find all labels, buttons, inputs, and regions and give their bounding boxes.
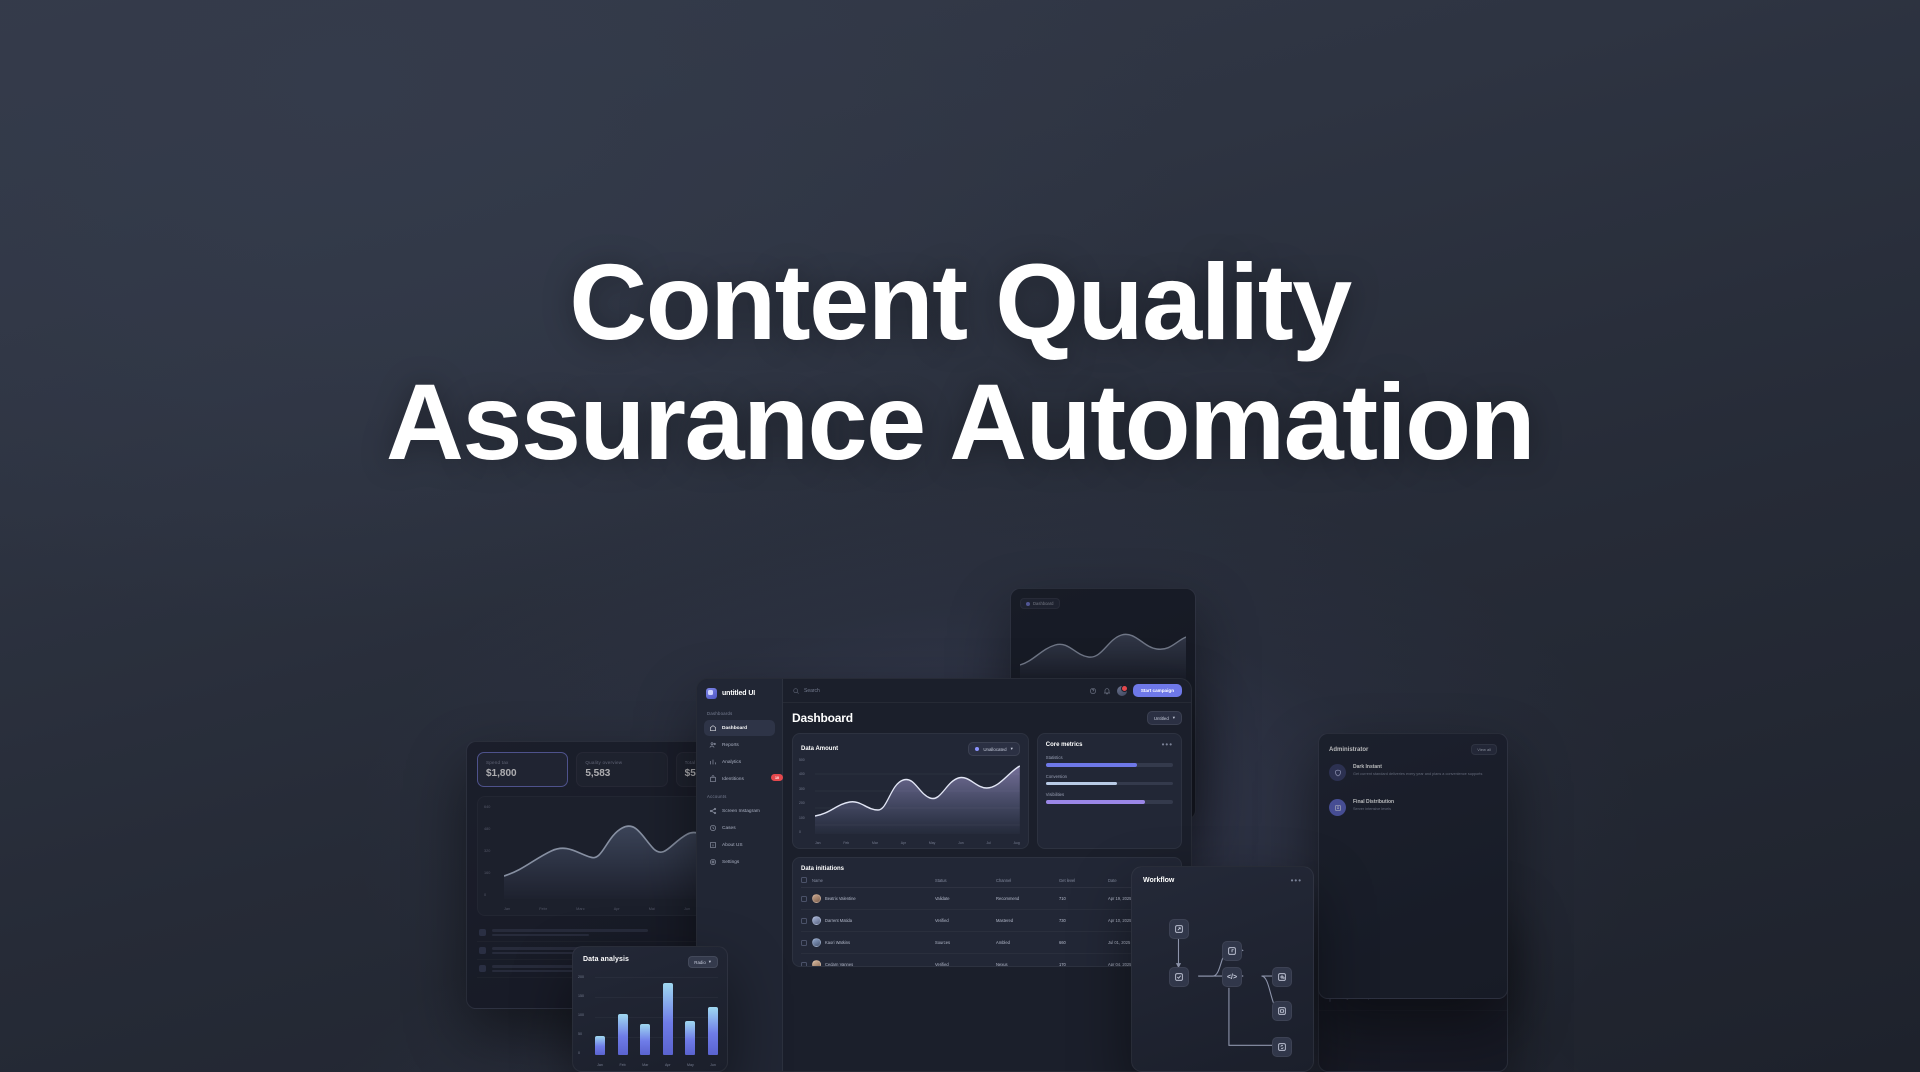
main-dashboard-window[interactable]: untitled UI Dashboards Dashboard Repo <box>696 678 1192 1072</box>
status-dot-icon <box>975 747 979 751</box>
x-tick: Febr <box>539 907 547 911</box>
avatar <box>812 894 821 903</box>
data-amount-card[interactable]: Data Amount Unallocated ▾ 500 4 <box>792 733 1029 849</box>
x-tick: Jul <box>986 841 990 845</box>
list-item[interactable]: Dark Instant Get current standard delive… <box>1319 755 1507 790</box>
cell-level: 730 <box>1059 918 1103 923</box>
bar <box>663 983 673 1055</box>
view-all-button[interactable]: View all <box>1471 744 1497 755</box>
chevron-down-icon: ▾ <box>1011 746 1013 752</box>
sidebar-item-label: Cases <box>722 826 736 831</box>
image-node-icon <box>1277 1006 1287 1016</box>
cell-status: Validate <box>935 896 991 901</box>
workflow-node-check[interactable] <box>1169 967 1189 987</box>
x-tick: Jun <box>958 841 963 845</box>
name-text: Kaori Watkins <box>825 940 850 945</box>
filter-label: Radio <box>694 960 705 965</box>
x-tick: Mar <box>872 841 878 845</box>
card-header: Core metrics ••• <box>1046 742 1173 748</box>
y-tick: 160 <box>484 871 500 875</box>
bar-x-axis: Jan Feb Mar Apr May Jun <box>595 1063 718 1067</box>
card-title: Data Amount <box>801 746 838 752</box>
share-node-icon <box>1174 924 1184 934</box>
y-tick: 480 <box>484 827 500 831</box>
users-icon <box>709 741 717 749</box>
list-item-text <box>492 929 703 936</box>
brand[interactable]: untitled UI <box>704 688 775 699</box>
check-node-icon <box>1174 972 1184 982</box>
sidebar-item-reports[interactable]: Reports <box>704 737 775 753</box>
avatar <box>812 960 821 967</box>
administrator-header: Administrator View all <box>1319 734 1507 755</box>
x-tick: Mai <box>649 907 655 911</box>
headline-line-2: Assurance Automation <box>0 368 1920 476</box>
name-text: Beatrix Valentine <box>825 896 856 901</box>
bar-plot <box>595 977 718 1055</box>
metric-label: Conversion <box>1046 774 1173 779</box>
bar <box>595 1036 605 1055</box>
data-initiations-table[interactable]: Data initiations Name Status Channel Get… <box>792 857 1182 967</box>
cell-status: Verified <box>935 918 991 923</box>
notification-badge: 10 <box>771 774 783 781</box>
chart-icon <box>709 758 717 766</box>
at-node-icon <box>1277 972 1287 982</box>
workflow-header: Workflow ••• <box>1132 867 1313 884</box>
help-icon[interactable] <box>1089 687 1097 695</box>
cell-status: Sources <box>935 940 991 945</box>
x-tick: Jan <box>595 1063 605 1067</box>
card-header: Data Amount Unallocated ▾ <box>801 742 1020 756</box>
headline-line-1: Content Quality <box>569 241 1351 362</box>
more-options-icon[interactable]: ••• <box>1291 879 1302 883</box>
y-tick: 500 <box>799 758 815 762</box>
y-tick: 400 <box>799 772 815 776</box>
sidebar-item-about-us[interactable]: About US <box>704 837 775 853</box>
y-tick: 0 <box>484 893 500 897</box>
amount-y-axis: 500 400 300 200 100 0 <box>799 758 815 834</box>
y-tick: 50 <box>578 1032 594 1036</box>
gear-icon <box>709 858 717 866</box>
y-tick: 100 <box>578 1013 594 1017</box>
clock-icon <box>709 824 717 832</box>
sidebar-item-label: Screen Instagram <box>722 809 760 814</box>
home-icon <box>709 724 717 732</box>
layers-icon <box>1329 799 1346 816</box>
bell-icon[interactable] <box>1103 687 1111 695</box>
cell-channel: Nexus <box>996 962 1054 967</box>
avatar[interactable] <box>1117 686 1127 696</box>
x-tick: Marc <box>576 907 584 911</box>
x-tick: Jan <box>504 907 510 911</box>
dashboard-body: Dashboard Untitled ▾ Data Amount <box>783 703 1191 1071</box>
cell-name: Kaori Watkins <box>812 938 930 947</box>
cards-row: Data Amount Unallocated ▾ 500 4 <box>792 733 1182 849</box>
search-input[interactable]: Search <box>792 687 1083 695</box>
table-row[interactable]: Darrent Matida Verified Mastered 730 Apr… <box>801 910 1173 932</box>
y-tick: 320 <box>484 849 500 853</box>
row-checkbox[interactable] <box>801 940 807 946</box>
sidebar-item-dashboard[interactable]: Dashboard <box>704 720 775 736</box>
bar <box>640 1024 650 1055</box>
metric-conversion: Conversion <box>1046 774 1173 786</box>
workflow-panel[interactable]: Workflow ••• <box>1131 866 1314 1072</box>
x-tick: May <box>685 1063 695 1067</box>
chevron-down-icon: ▾ <box>1173 715 1175 721</box>
table-row[interactable]: Kaori Watkins Sources Ambled 660 Jul 01,… <box>801 932 1173 954</box>
panel-title: Administrator <box>1329 747 1368 753</box>
x-tick: Jun <box>708 1063 718 1067</box>
sidebar-item-label: Settings <box>722 860 739 865</box>
item-desc: Server intensive levels <box>1353 807 1394 813</box>
bar <box>618 1014 628 1055</box>
page-filter-dropdown[interactable]: Untitled ▾ <box>1147 711 1182 725</box>
row-checkbox[interactable] <box>801 962 807 968</box>
table-header-row: Name Status Channel Get level Date <box>801 872 1173 888</box>
hero-background: Content Quality Assurance Automation Spe… <box>0 0 1920 1072</box>
thumb-icon <box>479 965 486 972</box>
progress-track <box>1046 763 1173 767</box>
sidebar-section-dashboards: Dashboards <box>707 711 775 716</box>
thumb-icon <box>479 947 486 954</box>
right-panel-filter[interactable]: Dashboard <box>1020 598 1060 609</box>
x-tick: Mar <box>640 1063 650 1067</box>
brand-name: untitled UI <box>722 690 755 697</box>
y-tick: 200 <box>578 975 594 979</box>
y-tick: 0 <box>799 830 815 834</box>
x-tick: Apr <box>614 907 620 911</box>
main-content: Search Start campaign Dashboa <box>783 679 1191 1071</box>
info-icon <box>709 841 717 849</box>
avatar <box>812 916 821 925</box>
select-all-checkbox[interactable] <box>801 877 807 883</box>
stat-card-spend[interactable]: Spend tax $1,800 <box>477 752 568 787</box>
filter-label: Unallocated <box>983 747 1006 752</box>
table-row[interactable]: Beatrix Valentine Validate Recommend 710… <box>801 888 1173 910</box>
stat-value: $1,800 <box>486 768 559 779</box>
row-checkbox[interactable] <box>801 918 807 924</box>
chart-y-axis: 640 480 320 160 0 <box>484 805 500 897</box>
panel-title: Workflow <box>1143 877 1174 884</box>
y-tick: 0 <box>578 1051 594 1055</box>
cell-name: Beatrix Valentine <box>812 894 930 903</box>
x-tick: Feb <box>843 841 849 845</box>
data-analysis-card[interactable]: Data analysis Radio ▾ 200 150 100 50 0 <box>572 946 728 1072</box>
bag-icon <box>709 775 717 783</box>
x-tick: Jan <box>815 841 820 845</box>
refresh-node-icon <box>1277 1042 1287 1052</box>
bar-y-axis: 200 150 100 50 0 <box>578 975 594 1055</box>
cell-channel: Recommend <box>996 896 1054 901</box>
row-checkbox[interactable] <box>801 896 807 902</box>
item-name: Final Distribution <box>1353 799 1394 805</box>
sidebar-section-accounts: Accounts <box>707 794 775 799</box>
top-bar: Search Start campaign <box>783 679 1191 703</box>
cell-channel: Mastered <box>996 918 1054 923</box>
filter-label: Untitled <box>1154 716 1169 721</box>
workflow-node-code[interactable]: </> <box>1222 967 1242 987</box>
sidebar-item-label: About US <box>722 843 743 848</box>
workflow-canvas[interactable]: </> <box>1132 889 1313 1071</box>
sidebar-item-label: Identitions <box>722 777 744 782</box>
bar <box>708 1007 718 1055</box>
sidebar-item-cases[interactable]: Cases <box>704 820 775 836</box>
sidebar-item-label: Analytics <box>722 760 741 765</box>
avatar <box>812 938 821 947</box>
search-icon <box>792 687 800 695</box>
workflow-node-grid[interactable] <box>1222 941 1242 961</box>
page-title: Content Quality Assurance Automation <box>0 248 1920 476</box>
dashboard-title: Dashboard <box>792 711 853 725</box>
y-tick: 200 <box>799 801 815 805</box>
shield-icon <box>1329 764 1346 781</box>
card-title: Core metrics <box>1046 742 1083 748</box>
sidebar-item-identitions[interactable]: Identitions 10 <box>704 771 775 787</box>
stat-value: 5,583 <box>585 768 658 779</box>
share-icon <box>709 807 717 815</box>
cell-status: Verified <box>935 962 991 967</box>
column-header-level[interactable]: Get level <box>1059 878 1103 883</box>
y-tick: 640 <box>484 805 500 809</box>
x-tick: Jun <box>684 907 690 911</box>
grid-node-icon <box>1227 946 1237 956</box>
core-metrics-card[interactable]: Core metrics ••• Statistics Conversion <box>1037 733 1182 849</box>
sidebar-item-screen-instagram[interactable]: Screen Instagram <box>704 803 775 819</box>
column-header-name[interactable]: Name <box>812 878 930 883</box>
more-options-icon[interactable]: ••• <box>1162 743 1173 747</box>
logo-icon <box>706 688 717 699</box>
metric-visibilities: Visibilities <box>1046 792 1173 804</box>
sidebar-item-label: Dashboard <box>722 726 747 731</box>
search-placeholder: Search <box>804 688 820 694</box>
table-row[interactable]: Cedarn Vannes Verified Nexus 170 Apr 04,… <box>801 954 1173 967</box>
cell-channel: Ambled <box>996 940 1054 945</box>
right-panel-chart <box>1020 619 1186 683</box>
chevron-down-icon: ▾ <box>709 959 711 965</box>
right-panel-header: Dashboard <box>1011 589 1195 609</box>
y-tick: 100 <box>799 816 815 820</box>
column-header-status[interactable]: Status <box>935 878 991 883</box>
code-node-icon: </> <box>1227 974 1237 981</box>
item-name: Dark Instant <box>1353 764 1482 770</box>
metric-label: Statistics <box>1046 755 1173 760</box>
x-tick: Aug <box>1014 841 1020 845</box>
sidebar-item-label: Reports <box>722 743 739 748</box>
workflow-node-refresh[interactable] <box>1272 1037 1292 1057</box>
workflow-node-image[interactable] <box>1272 1001 1292 1021</box>
workflow-node-at[interactable] <box>1272 967 1292 987</box>
list-item[interactable]: Final Distribution Server intensive leve… <box>1319 790 1507 825</box>
x-tick: Apr <box>901 841 906 845</box>
page-header: Dashboard Untitled ▾ <box>792 711 1182 725</box>
amount-area-plot <box>815 760 1020 834</box>
cell-name: Darrent Matida <box>812 916 930 925</box>
thumb-icon <box>479 929 486 936</box>
stat-label: Quality overview <box>585 760 658 765</box>
y-tick: 300 <box>799 787 815 791</box>
start-campaign-button[interactable]: Start campaign <box>1133 684 1182 697</box>
stat-card-quality[interactable]: Quality overview 5,583 <box>576 752 667 787</box>
administrator-panel[interactable]: Administrator View all Dark Instant Get … <box>1318 733 1508 999</box>
metric-statistics: Statistics <box>1046 755 1173 767</box>
name-text: Darrent Matida <box>825 918 852 923</box>
x-tick: Apr <box>663 1063 673 1067</box>
bar-filter-dropdown[interactable]: Radio ▾ <box>688 956 718 968</box>
workflow-node-share[interactable] <box>1169 919 1189 939</box>
y-tick: 150 <box>578 994 594 998</box>
device-mockup-cluster: Spend tax $1,800 Quality overview 5,583 … <box>0 0 1920 1072</box>
cell-level: 170 <box>1059 962 1103 967</box>
progress-track <box>1046 782 1173 786</box>
bar <box>685 1021 695 1055</box>
sidebar-item-analytics[interactable]: Analytics <box>704 754 775 770</box>
cell-level: 710 <box>1059 896 1103 901</box>
column-header-channel[interactable]: Channel <box>996 878 1054 883</box>
cell-level: 660 <box>1059 940 1103 945</box>
metric-label: Visibilities <box>1046 792 1173 797</box>
name-text: Cedarn Vannes <box>825 962 853 967</box>
x-tick: Feb <box>618 1063 628 1067</box>
cell-name: Cedarn Vannes <box>812 960 930 967</box>
amount-x-axis: Jan Feb Mar Apr May Jun Jul Aug <box>815 841 1020 845</box>
stat-label: Spend tax <box>486 760 559 765</box>
x-tick: May <box>929 841 935 845</box>
item-desc: Get current standard deliveries every ye… <box>1353 772 1482 778</box>
progress-track <box>1046 800 1173 804</box>
sidebar-item-settings[interactable]: Settings <box>704 854 775 870</box>
amount-filter-dropdown[interactable]: Unallocated ▾ <box>968 742 1019 756</box>
